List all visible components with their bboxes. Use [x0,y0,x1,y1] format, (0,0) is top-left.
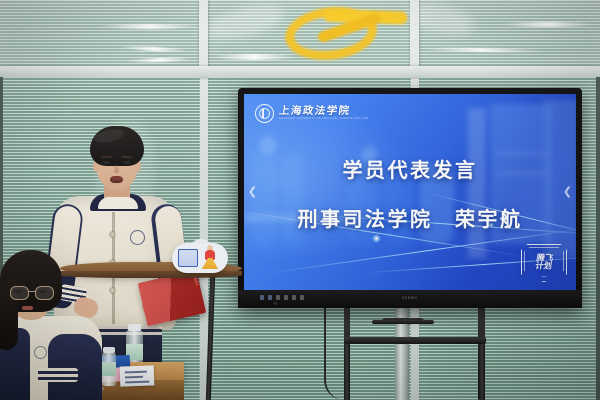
name-card-tent [120,365,155,386]
university-seal-icon [255,104,274,123]
student-eye-left [14,290,21,293]
slide-title-line-1: 学员代表发言 [244,154,576,183]
tv-cart-leg [344,344,350,400]
speaker-mouth-speaking [110,176,123,183]
window-frame-edge [596,77,600,400]
jacket-button [110,232,115,237]
tv-cart-leg [479,344,485,400]
speaker-collar-inner [98,197,138,209]
jacket-chest-emblem [130,230,145,245]
tv-cart-mount-plate [372,320,434,324]
window-transom [0,66,600,77]
light-reflection [210,54,298,60]
slide-institution-logo: 上海政法学院 SHANGHAI UNIVERSITY OF POLITICAL … [255,104,368,123]
display-bottom-bezel: SEEWO [238,290,582,308]
badge-label-line-2: 计划 [534,263,552,272]
mascot-figurine [202,245,218,269]
program-badge: 腾飞 计划 [521,244,567,282]
chevron-right-icon[interactable]: ❮ [561,185,574,199]
photo-scene: 上海政法学院 SHANGHAI UNIVERSITY OF POLITICAL … [0,0,600,400]
student-cuff-stripe [38,368,78,382]
tv-cart-column [395,300,409,400]
bottle-cap-icon [128,324,141,331]
light-reflection [96,24,202,29]
tv-cart-horizontal-bar [344,337,486,344]
seated-student [0,250,100,400]
jacket-button [110,288,115,293]
interactive-flat-panel-display[interactable]: 上海政法学院 SHANGHAI UNIVERSITY OF POLITICAL … [238,88,582,308]
institution-name-cn: 上海政法学院 [278,106,369,117]
student-sleeve-navy [48,334,102,400]
speaker-hair [90,126,144,166]
slide-title-block: 学员代表发言 刑事司法学院 荣宇航 [244,154,576,232]
presentation-slide: 上海政法学院 SHANGHAI UNIVERSITY OF POLITICAL … [244,94,576,290]
light-reflection [500,22,596,27]
speaker-nose [114,164,119,173]
student-eye-right [39,290,46,293]
slide-title-line-2: 刑事司法学院 荣宇航 [244,203,576,232]
power-cable [324,306,344,400]
student-mouth [22,306,33,310]
display-brand-mark: SEEWO [402,296,418,300]
student-jacket-emblem [34,346,47,359]
display-screen[interactable]: 上海政法学院 SHANGHAI UNIVERSITY OF POLITICAL … [244,94,576,290]
bottle-label [102,362,116,376]
stand-emblem-icon [178,249,198,267]
ir-sensor-icon [274,302,277,305]
institution-name-en: SHANGHAI UNIVERSITY OF POLITICAL SCIENCE… [279,118,368,121]
display-control-buttons[interactable] [260,295,304,300]
cloud-acrylic-stand [172,243,228,273]
chevron-left-icon[interactable]: ❮ [246,185,259,199]
window-mullion [199,0,208,400]
